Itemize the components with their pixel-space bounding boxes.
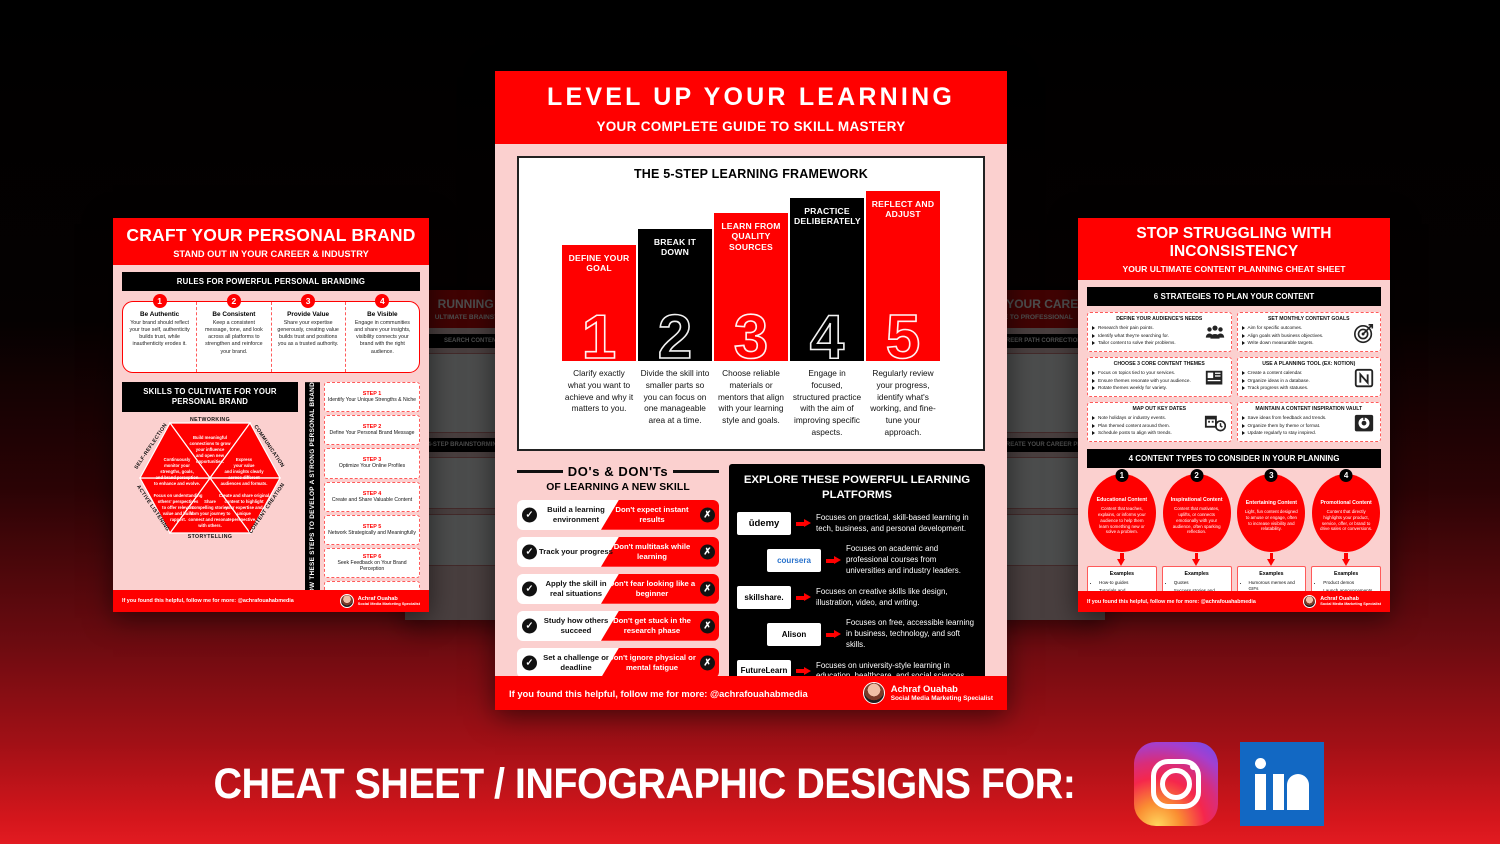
- framework-bar: DEFINE YOUR GOAL 1: [562, 245, 636, 361]
- step-item: STEP 1 Identify Your Unique Strengths & …: [324, 382, 420, 412]
- step-item: STEP 5 Network Strategically and Meaning…: [324, 515, 420, 545]
- platforms-block: EXPLORE THESE POWERFUL LEARNING PLATFORM…: [729, 464, 985, 691]
- instagram-icon[interactable]: [1134, 742, 1218, 826]
- svg-text:Build meaningful: Build meaningful: [193, 435, 227, 440]
- content-type-ellipse: 3 Entertaining Content Light, fun conten…: [1237, 474, 1305, 552]
- left-middle-section: SKILLS TO CULTIVATE FOR YOUR PERSONAL BR…: [122, 382, 420, 611]
- author-role: Social Media Marketing Specialist: [1320, 602, 1381, 606]
- dont-text: Don't multitask while learning: [605, 542, 699, 562]
- framework-bar: PRACTICE DELIBERATELY 4: [790, 198, 864, 361]
- footer-cta: If you found this helpful, follow me for…: [509, 688, 863, 699]
- rule-title: Provide Value: [277, 311, 340, 318]
- svg-text:to enhance and evolve.: to enhance and evolve.: [154, 481, 200, 486]
- example-item: How-to guides: [1099, 580, 1152, 586]
- framework-caption: Choose reliable materials or mentors tha…: [714, 368, 788, 439]
- strategies-grid: DEFINE YOUR AUDIENCE'S NEEDS Research th…: [1087, 312, 1381, 442]
- rule-card: 1 Be Authentic Your brand should reflect…: [123, 302, 196, 372]
- coursera-logo: coursera: [767, 549, 821, 572]
- framework-column: DEFINE YOUR GOAL 1: [562, 191, 636, 361]
- framework-column: REFLECT AND ADJUST 5: [866, 191, 940, 361]
- center-lower-section: DO's & DON'Ts OF LEARNING A NEW SKILL ✓ …: [517, 464, 985, 691]
- example-item: Product demos: [1323, 580, 1376, 586]
- strategy-title: SET MONTHLY CONTENT GOALS: [1242, 316, 1377, 322]
- rule-card: 4 Be Visible Engage in communities and s…: [345, 302, 419, 372]
- svg-text:opportunities.: opportunities.: [196, 459, 224, 464]
- do-text: Track your progress: [539, 547, 613, 557]
- step-item: STEP 2 Define Your Personal Brand Messag…: [324, 415, 420, 445]
- dos-donts-row: ✓ Study how others succeed Don't get stu…: [517, 611, 719, 641]
- examples-label: Examples: [1316, 571, 1376, 577]
- strategy-card: SET MONTHLY CONTENT GOALS Aim for specif…: [1237, 312, 1382, 352]
- svg-text:value and build: value and build: [163, 511, 194, 516]
- svg-text:STORYTELLING: STORYTELLING: [188, 534, 233, 539]
- framework-bar: LEARN FROM QUALITY SOURCES 3: [714, 213, 788, 361]
- rule-title: Be Consistent: [202, 311, 265, 318]
- rule-text: Your brand should reflect your true self…: [128, 320, 191, 349]
- svg-text:Focus on understanding: Focus on understanding: [154, 493, 203, 498]
- rule-badge: 4: [375, 294, 389, 308]
- framework-bar-number: 4: [790, 307, 864, 369]
- footer-cta: If you found this helpful, follow me for…: [1087, 599, 1303, 605]
- vault-icon: [1353, 412, 1375, 434]
- bottom-banner: CHEAT SHEET / INFOGRAPHIC DESIGNS FOR:: [0, 724, 1500, 844]
- step-text: Network Strategically and Meaningfully: [328, 530, 416, 536]
- dos-donts-row: ✓ Set a challenge or deadline Don't igno…: [517, 648, 719, 678]
- divider-line: [517, 470, 563, 473]
- framework-bar-number: 5: [866, 307, 940, 369]
- content-type-badge: 1: [1115, 469, 1128, 482]
- framework-bar-label: BREAK IT DOWN: [642, 237, 708, 258]
- avatar: [863, 682, 885, 704]
- svg-text:and brand perception: and brand perception: [156, 475, 199, 480]
- right-poster-title: STOP STRUGGLING WITH INCONSISTENCY: [1078, 225, 1390, 261]
- center-poster-title: LEVEL UP YOUR LEARNING: [495, 83, 1007, 112]
- rule-text: Share your expertise generously, creatin…: [277, 320, 340, 349]
- rule-text: Keep a consistent message, tone, and loo…: [202, 320, 265, 356]
- skills-hexagon-block: SKILLS TO CULTIVATE FOR YOUR PERSONAL BR…: [122, 382, 298, 611]
- banner-text: CHEAT SHEET / INFOGRAPHIC DESIGNS FOR:: [213, 760, 1075, 809]
- step-item: STEP 3 Optimize Your Online Profiles: [324, 448, 420, 478]
- svg-text:Express: Express: [236, 457, 253, 462]
- cross-icon: ✗: [700, 618, 715, 633]
- arrow-right-icon: [826, 630, 841, 639]
- step-text: Seek Feedback on Your Brand Perception: [327, 560, 417, 572]
- poster-level-up-your-learning[interactable]: LEVEL UP YOUR LEARNING YOUR COMPLETE GUI…: [495, 71, 1007, 710]
- content-type-title: Inspirational Content: [1171, 497, 1223, 504]
- svg-text:compelling stories: compelling stories: [192, 505, 230, 510]
- example-item: Quotes: [1174, 580, 1227, 586]
- rule-title: Be Visible: [351, 311, 414, 318]
- framework-caption: Regularly review your progress, identify…: [866, 368, 940, 439]
- svg-text:connections to grow: connections to grow: [190, 441, 232, 446]
- svg-text:with others.: with others.: [197, 523, 222, 528]
- right-poster-header: STOP STRUGGLING WITH INCONSISTENCY YOUR …: [1078, 218, 1390, 280]
- svg-text:your influence: your influence: [196, 447, 225, 452]
- steps-list: STEP 1 Identify Your Unique Strengths & …: [324, 382, 420, 611]
- svg-text:connect and resonate: connect and resonate: [188, 517, 232, 522]
- framework-column: PRACTICE DELIBERATELY 4: [790, 191, 864, 361]
- framework-bar-number: 1: [562, 307, 636, 369]
- linkedin-n: [1273, 774, 1309, 810]
- step-item: STEP 6 Seek Feedback on Your Brand Perce…: [324, 548, 420, 578]
- content-type-badge: 2: [1190, 469, 1203, 482]
- framework-bar-label: LEARN FROM QUALITY SOURCES: [718, 221, 784, 252]
- arrow-right-icon: [826, 556, 841, 565]
- strategy-card: DEFINE YOUR AUDIENCE'S NEEDS Research th…: [1087, 312, 1232, 352]
- left-poster-header: CRAFT YOUR PERSONAL BRAND STAND OUT IN Y…: [113, 218, 429, 265]
- skillshare-logo: skillshare.: [737, 586, 791, 609]
- check-icon: ✓: [522, 618, 537, 633]
- rule-card: 2 Be Consistent Keep a consistent messag…: [196, 302, 270, 372]
- content-types-bar: 4 CONTENT TYPES TO CONSIDER IN YOUR PLAN…: [1087, 449, 1381, 468]
- rule-badge: 3: [301, 294, 315, 308]
- dos-donts-block: DO's & DON'Ts OF LEARNING A NEW SKILL ✓ …: [517, 464, 719, 691]
- svg-text:and open new: and open new: [196, 453, 225, 458]
- step-item: STEP 4 Create and Share Valuable Content: [324, 482, 420, 512]
- strategy-card: MAINTAIN A CONTENT INSPIRATION VAULT Sav…: [1237, 402, 1382, 442]
- examples-label: Examples: [1167, 571, 1227, 577]
- svg-text:rapport.: rapport.: [170, 517, 186, 522]
- alison-logo: Alison: [767, 623, 821, 646]
- content-type-title: Educational Content: [1097, 497, 1147, 504]
- avatar: [340, 594, 354, 608]
- svg-text:unique: unique: [237, 511, 251, 516]
- framework-title: THE 5-STEP LEARNING FRAMEWORK: [529, 167, 973, 181]
- dont-text: Don't expect instant results: [605, 505, 699, 525]
- strategy-title: USE A PLANNING TOOL (EX: NOTION): [1242, 361, 1377, 367]
- platforms-heading: EXPLORE THESE POWERFUL LEARNING PLATFORM…: [737, 473, 977, 504]
- content-type-ellipse: 2 Inspirational Content Content that mot…: [1163, 474, 1231, 552]
- arrow-down-icon: [1192, 553, 1201, 566]
- platform-desc: Focuses on free, accessible learning in …: [846, 618, 977, 651]
- svg-text:Create and share original: Create and share original: [219, 493, 269, 498]
- step-text: Identify Your Unique Strengths & Niche: [328, 397, 416, 403]
- framework-bar-number: 2: [638, 307, 712, 369]
- svg-text:monitor your: monitor your: [164, 463, 190, 468]
- framework-bar-number: 3: [714, 307, 788, 369]
- content-type-desc: Content that directly highlights your pr…: [1319, 509, 1373, 532]
- svg-text:audiences and formats.: audiences and formats.: [221, 481, 268, 486]
- author-block: Achraf Ouahab Social Media Marketing Spe…: [1320, 596, 1381, 606]
- svg-text:strengths, goals,: strengths, goals,: [160, 469, 194, 474]
- poster-stop-struggling-with-inconsistency[interactable]: STOP STRUGGLING WITH INCONSISTENCY YOUR …: [1078, 218, 1390, 612]
- arrow-down-icon: [1117, 553, 1126, 566]
- linkedin-i-dot: [1255, 758, 1266, 769]
- rule-text: Engage in communities and share your ins…: [351, 320, 414, 356]
- content-type-ellipse: 1 Educational Content Content that teach…: [1088, 474, 1156, 552]
- cross-icon: ✗: [700, 655, 715, 670]
- target-icon: [1353, 322, 1375, 344]
- framework-caption: Clarify exactly what you want to achieve…: [562, 368, 636, 439]
- framework-caption: Engage in focused, structured practice w…: [790, 368, 864, 439]
- center-poster-footer: If you found this helpful, follow me for…: [495, 676, 1007, 710]
- step-text: Optimize Your Online Profiles: [339, 463, 405, 469]
- cross-icon: ✗: [700, 581, 715, 596]
- content-type-desc: Content that motivates, uplifts, or conn…: [1170, 506, 1224, 535]
- examples-label: Examples: [1092, 571, 1152, 577]
- framework-column: BREAK IT DOWN 2: [638, 191, 712, 361]
- linkedin-i-bar: [1255, 774, 1266, 810]
- author-name: Achraf Ouahab: [891, 684, 993, 695]
- svg-text:Share: Share: [204, 499, 216, 504]
- linkedin-icon[interactable]: [1240, 742, 1324, 826]
- do-text: Apply the skill in real situations: [539, 579, 613, 599]
- left-poster-subtitle: STAND OUT IN YOUR CAREER & INDUSTRY: [113, 249, 429, 259]
- examples-label: Examples: [1242, 571, 1302, 577]
- strategy-card: CHOOSE 3 CORE CONTENT THEMES Focus on to…: [1087, 357, 1232, 397]
- rule-title: Be Authentic: [128, 311, 191, 318]
- do-text: Build a learning environment: [539, 505, 613, 525]
- check-icon: ✓: [522, 507, 537, 522]
- dos-donts-heading-row: DO's & DON'Ts: [517, 464, 719, 479]
- framework-caption: Divide the skill into smaller parts so y…: [638, 368, 712, 439]
- svg-text:others' perspectives: others' perspectives: [158, 499, 199, 504]
- check-icon: ✓: [522, 544, 537, 559]
- svg-text:your value: your value: [234, 463, 256, 468]
- left-skills-bar: SKILLS TO CULTIVATE FOR YOUR PERSONAL BR…: [122, 382, 298, 412]
- content-type-desc: Content that teaches, explains, or infor…: [1095, 506, 1149, 535]
- right-poster-body: 6 STRATEGIES TO PLAN YOUR CONTENT DEFINE…: [1078, 280, 1390, 612]
- dos-donts-subheading: OF LEARNING A NEW SKILL: [517, 482, 719, 493]
- arrow-right-icon: [796, 667, 811, 676]
- center-poster-header: LEVEL UP YOUR LEARNING YOUR COMPLETE GUI…: [495, 71, 1007, 144]
- instagram-circle: [1160, 768, 1192, 800]
- cross-icon: ✗: [700, 544, 715, 559]
- rule-badge: 1: [153, 294, 167, 308]
- author-role: Social Media Marketing Specialist: [358, 602, 420, 606]
- strategy-title: CHOOSE 3 CORE CONTENT THEMES: [1092, 361, 1227, 367]
- people-group-icon: [1204, 322, 1226, 344]
- steps-vertical-label: FOLLOW THESE STEPS TO DEVELOP A STRONG P…: [305, 382, 320, 611]
- author-role: Social Media Marketing Specialist: [891, 695, 993, 702]
- strategy-title: DEFINE YOUR AUDIENCE'S NEEDS: [1092, 316, 1227, 322]
- steps-block: FOLLOW THESE STEPS TO DEVELOP A STRONG P…: [305, 382, 420, 611]
- platform-row: Alison Focuses on free, accessible learn…: [737, 618, 977, 651]
- svg-text:across different: across different: [228, 475, 260, 480]
- do-text: Study how others succeed: [539, 616, 613, 636]
- strategy-card: MAP OUT KEY DATES Note holidays or indus…: [1087, 402, 1232, 442]
- strategy-title: MAINTAIN A CONTENT INSPIRATION VAULT: [1242, 406, 1377, 412]
- dont-text: Don't ignore physical or mental fatigue: [605, 653, 699, 673]
- dont-text: Don't fear looking like a beginner: [605, 579, 699, 599]
- right-poster-footer: If you found this helpful, follow me for…: [1078, 591, 1390, 612]
- author-block: Achraf Ouahab Social Media Marketing Spe…: [358, 596, 420, 607]
- content-type-title: Entertaining Content: [1246, 500, 1297, 507]
- framework-bar-label: PRACTICE DELIBERATELY: [794, 206, 860, 227]
- content-type-title: Promotional Content: [1320, 500, 1371, 507]
- framework-bar-label: DEFINE YOUR GOAL: [566, 253, 632, 274]
- svg-text:perspective.: perspective.: [232, 517, 256, 522]
- content-type-badge: 4: [1340, 469, 1353, 482]
- svg-text:content to highlight: content to highlight: [224, 499, 264, 504]
- strategy-title: MAP OUT KEY DATES: [1092, 406, 1227, 412]
- arrow-down-icon: [1267, 553, 1276, 566]
- hexagon-diagram: Build meaningfulconnections to grow your…: [122, 417, 298, 539]
- framework-bar-label: REFLECT AND ADJUST: [870, 199, 936, 220]
- content-type-desc: Light, fun content designed to amuse or …: [1244, 509, 1298, 532]
- poster-showcase: RUNNING OUT ULTIMATE BRAINSTORMING SEARC…: [0, 0, 1500, 844]
- check-icon: ✓: [522, 655, 537, 670]
- arrow-down-icon: [1342, 553, 1351, 566]
- right-poster-subtitle: YOUR ULTIMATE CONTENT PLANNING CHEAT SHE…: [1078, 264, 1390, 274]
- footer-cta: If you found this helpful, follow me for…: [122, 598, 340, 604]
- strategy-card: USE A PLANNING TOOL (EX: NOTION) Create …: [1237, 357, 1382, 397]
- platform-row: ūdemy Focuses on practical, skill-based …: [737, 512, 977, 535]
- step-text: Define Your Personal Brand Message: [330, 430, 415, 436]
- platform-row: coursera Focuses on academic and profess…: [737, 544, 977, 577]
- calendar-clock-icon: [1204, 412, 1226, 434]
- platform-desc: Focuses on academic and professional cou…: [846, 544, 977, 577]
- content-type-badge: 3: [1265, 469, 1278, 482]
- dont-text: Don't get stuck in the research phase: [605, 616, 699, 636]
- notion-icon: [1353, 367, 1375, 389]
- svg-text:and insights clearly: and insights clearly: [224, 469, 264, 474]
- do-text: Set a challenge or deadline: [539, 653, 613, 673]
- rule-card: 3 Provide Value Share your expertise gen…: [271, 302, 345, 372]
- left-poster-body: RULES FOR POWERFUL PERSONAL BRANDING 1 B…: [113, 265, 429, 612]
- divider-line: [673, 470, 719, 473]
- svg-text:Continuously: Continuously: [164, 457, 191, 462]
- platform-desc: Focuses on creative skills like design, …: [816, 587, 977, 609]
- platform-desc: Focuses on practical, skill-based learni…: [816, 513, 977, 535]
- platform-row: skillshare. Focuses on creative skills l…: [737, 586, 977, 609]
- check-icon: ✓: [522, 581, 537, 596]
- framework-bar: BREAK IT DOWN 2: [638, 229, 712, 361]
- svg-text:to offer relevant: to offer relevant: [162, 505, 194, 510]
- author-block: Achraf Ouahab Social Media Marketing Spe…: [891, 684, 993, 702]
- framework-bar: REFLECT AND ADJUST 5: [866, 191, 940, 361]
- left-rules-row: 1 Be Authentic Your brand should reflect…: [122, 301, 420, 373]
- svg-text:from your journey to: from your journey to: [190, 511, 231, 516]
- left-rules-bar: RULES FOR POWERFUL PERSONAL BRANDING: [122, 272, 420, 291]
- poster-craft-your-personal-brand[interactable]: CRAFT YOUR PERSONAL BRAND STAND OUT IN Y…: [113, 218, 429, 612]
- center-poster-subtitle: YOUR COMPLETE GUIDE TO SKILL MASTERY: [495, 119, 1007, 134]
- left-poster-title: CRAFT YOUR PERSONAL BRAND: [113, 225, 429, 246]
- framework-captions: Clarify exactly what you want to achieve…: [529, 368, 973, 439]
- avatar: [1303, 595, 1316, 608]
- arrow-right-icon: [796, 593, 811, 602]
- dos-donts-row: ✓ Build a learning environment Don't exp…: [517, 500, 719, 530]
- framework-column: LEARN FROM QUALITY SOURCES 3: [714, 191, 788, 361]
- udemy-logo: ūdemy: [737, 512, 791, 535]
- left-poster-footer: If you found this helpful, follow me for…: [113, 590, 429, 612]
- content-type-ellipse: 4 Promotional Content Content that direc…: [1312, 474, 1380, 552]
- step-text: Create and Share Valuable Content: [332, 497, 412, 503]
- dos-donts-row: ✓ Apply the skill in real situations Don…: [517, 574, 719, 604]
- framework-bar-chart: DEFINE YOUR GOAL 1 BREAK IT DOWN 2 LEARN…: [529, 191, 973, 361]
- strategies-bar: 6 STRATEGIES TO PLAN YOUR CONTENT: [1087, 287, 1381, 306]
- svg-text:your expertise and: your expertise and: [225, 505, 263, 510]
- dos-donts-heading: DO's & DON'Ts: [568, 464, 668, 479]
- rule-badge: 2: [227, 294, 241, 308]
- dos-donts-row: ✓ Track your progress Don't multitask wh…: [517, 537, 719, 567]
- framework-card: THE 5-STEP LEARNING FRAMEWORK DEFINE YOU…: [517, 156, 985, 451]
- cross-icon: ✗: [700, 507, 715, 522]
- arrow-right-icon: [796, 519, 811, 528]
- newspaper-icon: [1204, 367, 1226, 389]
- svg-text:NETWORKING: NETWORKING: [190, 417, 230, 423]
- hexagon-svg: Build meaningfulconnections to grow your…: [122, 417, 298, 539]
